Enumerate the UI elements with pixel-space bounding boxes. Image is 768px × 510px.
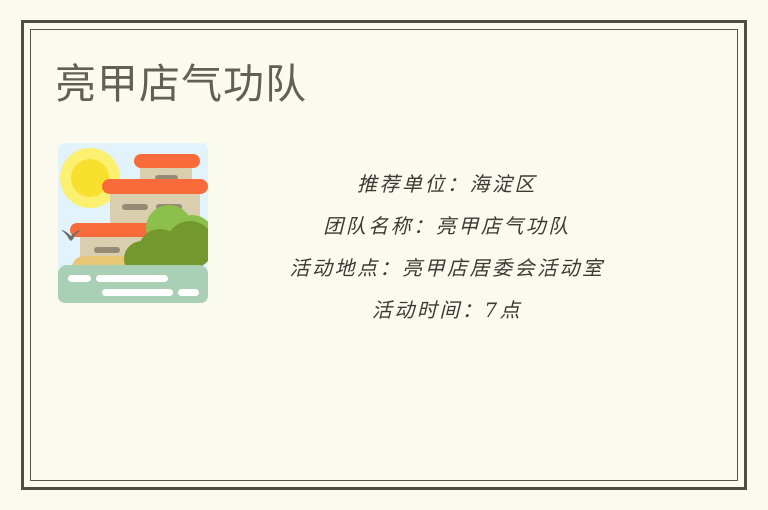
wave-line-3 <box>102 289 173 296</box>
window-lower <box>94 247 120 253</box>
window-middle-left <box>122 204 148 210</box>
info-card: 亮甲店气功队 推荐单位：海淀区 团队名称：亮甲店气功队 活动地点： <box>0 0 768 510</box>
roof-middle <box>102 179 208 194</box>
scenic-illustration <box>58 143 208 303</box>
roof-upper <box>134 154 200 168</box>
info-line-activity-location: 活动地点：亮甲店居委会活动室 <box>228 247 666 289</box>
page-title: 亮甲店气功队 <box>55 58 307 110</box>
info-line-team-name: 团队名称：亮甲店气功队 <box>228 205 666 247</box>
wave-line-2 <box>96 275 168 282</box>
info-text-block: 推荐单位：海淀区 团队名称：亮甲店气功队 活动地点：亮甲店居委会活动室 活动时间… <box>228 163 666 331</box>
water-body <box>58 265 208 303</box>
info-line-activity-time: 活动时间：7点 <box>228 289 666 331</box>
wave-line-4 <box>178 289 199 296</box>
info-line-recommending-unit: 推荐单位：海淀区 <box>228 163 666 205</box>
bird-icon <box>60 228 82 244</box>
wave-line-1 <box>68 275 91 282</box>
